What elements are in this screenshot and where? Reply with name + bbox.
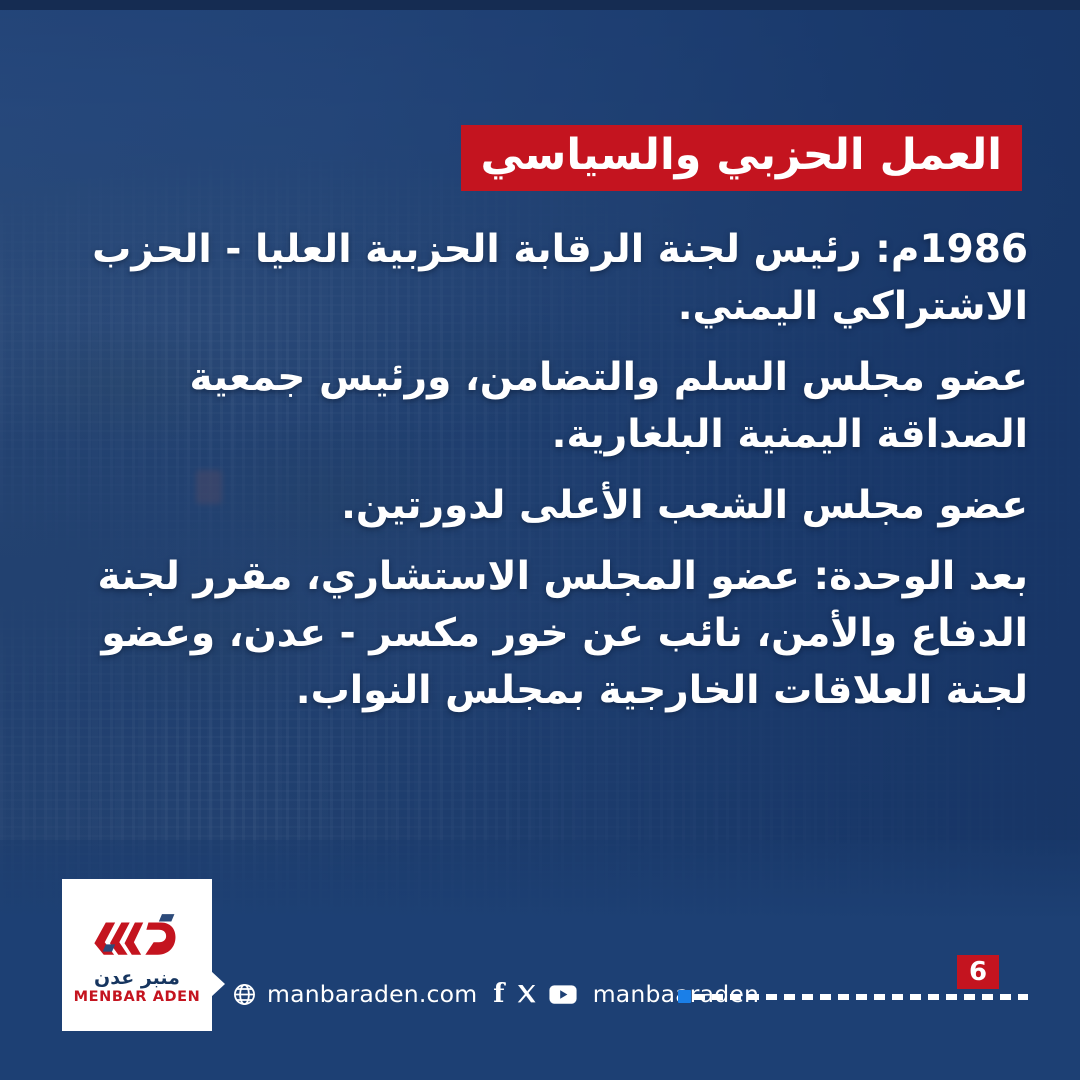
page-number-badge: 6 bbox=[957, 955, 999, 989]
dash-segments bbox=[694, 994, 1028, 1000]
dash-start-square bbox=[678, 990, 691, 1003]
footer-dashed-rule bbox=[678, 993, 1028, 1000]
page-title: العمل الحزبي والسياسي bbox=[481, 134, 1002, 177]
social-icon-group: f bbox=[493, 981, 576, 1007]
globe-icon bbox=[232, 982, 257, 1007]
body-paragraph-2: عضو مجلس السلم والتضامن، ورئيس جمعية الص… bbox=[48, 350, 1028, 464]
poster-canvas: العمل الحزبي والسياسي 1986م: رئيس لجنة ا… bbox=[0, 0, 1080, 1080]
title-banner: العمل الحزبي والسياسي bbox=[461, 125, 1022, 191]
body-paragraph-1: 1986م: رئيس لجنة الرقابة الحزبية العليا … bbox=[48, 222, 1028, 336]
website-url[interactable]: manbaraden.com bbox=[267, 980, 477, 1008]
facebook-icon[interactable]: f bbox=[493, 981, 504, 1007]
body-paragraph-4: بعد الوحدة: عضو المجلس الاستشاري، مقرر ل… bbox=[48, 549, 1028, 720]
logo-box: منبر عدن MENBAR ADEN bbox=[62, 879, 212, 1031]
body-text-block: 1986م: رئيس لجنة الرقابة الحزبية العليا … bbox=[48, 222, 1028, 720]
logo-arabic-name: منبر عدن bbox=[94, 968, 180, 989]
youtube-icon[interactable] bbox=[549, 984, 577, 1005]
body-paragraph-3: عضو مجلس الشعب الأعلى لدورتين. bbox=[48, 478, 1028, 535]
x-twitter-icon[interactable] bbox=[516, 983, 538, 1005]
top-edge-bar bbox=[0, 0, 1080, 10]
menbar-aden-logo-mark bbox=[85, 908, 189, 964]
logo-english-name: MENBAR ADEN bbox=[74, 990, 201, 1006]
page-number: 6 bbox=[969, 959, 987, 985]
